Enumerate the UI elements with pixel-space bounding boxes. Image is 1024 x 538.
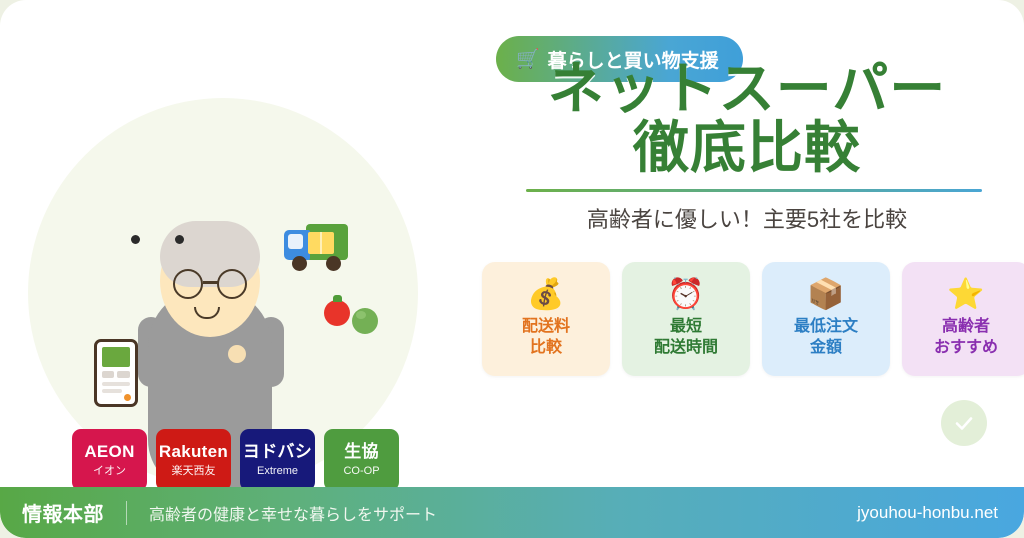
brand-name: AEON	[84, 442, 134, 462]
green-apple-icon	[352, 308, 378, 334]
decorative-dot	[228, 345, 246, 363]
phone-badge-dot	[124, 394, 131, 401]
footer-tagline: 高齢者の健康と幸せな暮らしをサポート	[149, 501, 437, 525]
phone-tile-right	[117, 371, 130, 378]
illustration-area	[0, 0, 470, 500]
phone-tile-left	[102, 371, 114, 378]
page-title-line-2: 徹底比較	[470, 119, 1024, 178]
brand-name: 生協	[344, 442, 379, 462]
glasses-bridge	[203, 281, 219, 284]
feature-card-minimum-order[interactable]: 📦 最低注文 金額	[762, 262, 890, 376]
hero-content: 🛒 暮らしと買い物支援 ネットスーパー 徹底比較 高齢者に優しい！主要5社を比較…	[470, 0, 1024, 500]
smartphone-app-icon	[94, 339, 138, 407]
feature-card-line-1: 最低注文	[794, 318, 858, 335]
alarm-clock-icon: ⏰	[667, 280, 704, 310]
person-eye-right	[175, 235, 184, 244]
brand-chip-coop[interactable]: 生協 CO-OP	[324, 429, 399, 491]
poster-page: AEON イオン Rakuten 楽天西友 ヨドバシ Extreme 生協 CO…	[0, 0, 1024, 538]
feature-card-delivery-time[interactable]: ⏰ 最短 配送時間	[622, 262, 750, 376]
phone-screen-header	[102, 347, 130, 367]
feature-card-line-1: 配送料	[522, 318, 570, 335]
feature-card-row: 💰 配送料 比較 ⏰ 最短 配送時間 📦 最低注文 金額	[482, 262, 1024, 376]
package-box-icon: 📦	[807, 280, 844, 310]
feature-card-line-2: 比較	[530, 339, 562, 356]
money-bag-icon: 💰	[527, 280, 564, 310]
page-subtitle: 高齢者に優しい！主要5社を比較	[470, 202, 1024, 234]
brand-chip-rakuten[interactable]: Rakuten 楽天西友	[156, 429, 231, 491]
feature-card-line-2: 金額	[810, 339, 842, 356]
feature-card-senior-recommended[interactable]: ⭐ 高齢者 おすすめ	[902, 262, 1024, 376]
brand-subname: CO-OP	[343, 465, 379, 478]
glasses-lens-left	[173, 269, 203, 299]
tomato-icon	[324, 300, 350, 326]
brand-name: ヨドバシ	[243, 442, 312, 462]
feature-card-line-1: 最短	[670, 318, 702, 335]
check-circle-icon	[941, 400, 987, 446]
brand-chip-yodobashi[interactable]: ヨドバシ Extreme	[240, 429, 315, 491]
phone-text-line-1	[102, 382, 130, 386]
feature-card-line-1: 高齢者	[942, 318, 990, 335]
delivery-truck-icon	[284, 224, 348, 276]
footer-brand: 情報本部	[22, 498, 104, 527]
brand-subname: Extreme	[257, 465, 298, 478]
feature-card-label: 最短 配送時間	[654, 317, 718, 359]
footer-url[interactable]: jyouhou-honbu.net	[857, 503, 998, 523]
feature-card-line-2: 配送時間	[654, 339, 718, 356]
brand-logo-row: AEON イオン Rakuten 楽天西友 ヨドバシ Extreme 生協 CO…	[72, 429, 399, 491]
footer-bar: 情報本部 高齢者の健康と幸せな暮らしをサポート jyouhou-honbu.ne…	[0, 487, 1024, 538]
feature-card-label: 高齢者 おすすめ	[934, 317, 998, 359]
glasses-lens-right	[217, 269, 247, 299]
brand-subname: 楽天西友	[172, 465, 216, 478]
glasses-icon	[173, 269, 249, 299]
page-title: ネットスーパー 徹底比較	[470, 60, 1024, 178]
truck-window	[288, 234, 303, 249]
truck-wheel-front	[292, 256, 307, 271]
feature-card-label: 最低注文 金額	[794, 317, 858, 359]
star-icon: ⭐	[947, 280, 984, 310]
feature-card-label: 配送料 比較	[522, 317, 570, 359]
truck-wheel-rear	[326, 256, 341, 271]
feature-card-shipping-fee[interactable]: 💰 配送料 比較	[482, 262, 610, 376]
person-eye-left	[131, 235, 140, 244]
truck-cargo	[308, 232, 334, 254]
page-title-line-1: ネットスーパー	[548, 57, 946, 120]
title-divider	[526, 189, 982, 192]
feature-card-line-2: おすすめ	[934, 339, 998, 356]
footer-divider	[126, 501, 127, 525]
brand-name: Rakuten	[159, 442, 228, 462]
brand-chip-aeon[interactable]: AEON イオン	[72, 429, 147, 491]
phone-text-line-2	[102, 389, 122, 393]
brand-subname: イオン	[93, 465, 126, 478]
